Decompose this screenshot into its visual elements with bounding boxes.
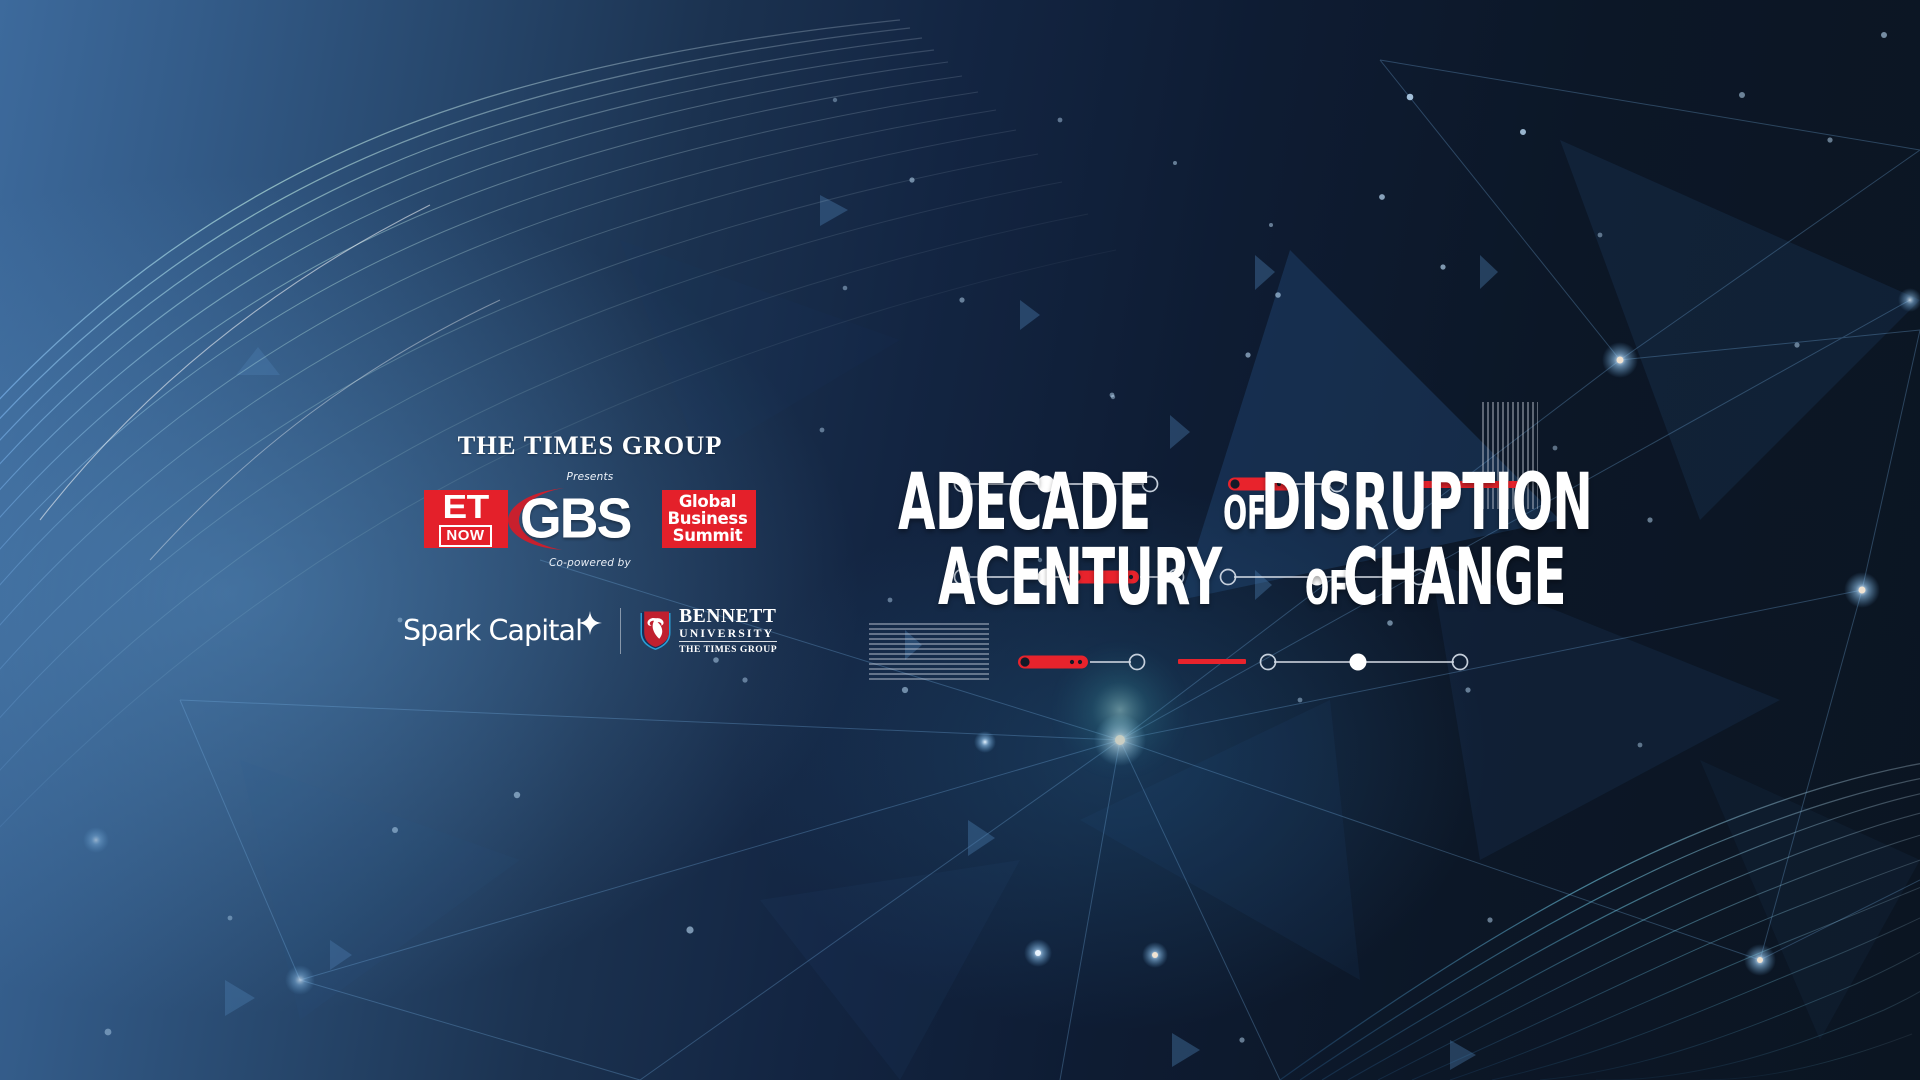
- headline-l2-word2: CHANGE: [1343, 545, 1566, 612]
- etnow-et-text: ET: [442, 491, 488, 522]
- presents-label: Presents: [380, 471, 800, 483]
- gbs-logo: ET NOW GBS Global Business Summit: [380, 490, 800, 548]
- bennett-line-2: UNIVERSITY: [679, 628, 777, 643]
- sponsor-row: Spark Capital BENNETT UNIVERSITY THE TIM…: [380, 598, 800, 664]
- gbs-mark-wrap: GBS: [508, 490, 668, 548]
- gbs-wordmark: GBS: [520, 490, 630, 547]
- bennett-university-logo: BENNETT UNIVERSITY THE TIMES GROUP: [639, 607, 777, 655]
- sponsor-divider: [620, 608, 621, 654]
- red-bar-bottom: [1178, 659, 1246, 664]
- gbs-expansion-line-2: Business: [668, 510, 748, 527]
- gbs-expansion-line-3: Summit: [668, 527, 748, 544]
- spark-capital-label: Spark Capital: [403, 617, 582, 646]
- headline-block: ADECADEOFDISRUPTION ACENTURYOFCHANGE: [880, 470, 1520, 612]
- bennett-text-block: BENNETT UNIVERSITY THE TIMES GROUP: [679, 607, 777, 655]
- bennett-line-3: THE TIMES GROUP: [679, 645, 777, 655]
- presenter-title: THE TIMES GROUP: [380, 432, 800, 459]
- brand-lockup: THE TIMES GROUP Presents ET NOW GBS Glob…: [380, 432, 800, 569]
- headline-l1-word2: DISRUPTION: [1261, 470, 1592, 537]
- bennett-line-1: BENNETT: [679, 607, 777, 627]
- headline-l2-a: A: [938, 545, 975, 612]
- headline-l1-of: OF: [1223, 494, 1266, 534]
- gbs-expansion-line-1: Global: [668, 493, 748, 510]
- bennett-shield-icon: [639, 611, 672, 651]
- spark-capital-logo: Spark Capital: [403, 617, 602, 646]
- headline-line-2: ACENTURYOFCHANGE: [938, 545, 1520, 612]
- headline-l2-of: OF: [1305, 569, 1348, 609]
- etnow-now-text: NOW: [439, 525, 491, 547]
- headline-l1-word1: DECADE: [935, 470, 1151, 537]
- headline-line-1: ADECADEOFDISRUPTION: [898, 470, 1520, 537]
- etnow-logo: ET NOW: [424, 490, 508, 548]
- copowered-label: Co-powered by: [380, 557, 800, 569]
- sparkle-icon: [578, 611, 602, 635]
- horizontal-stripe-texture: [869, 622, 989, 680]
- gbs-expansion-block: Global Business Summit: [662, 490, 757, 548]
- event-banner-stage: THE TIMES GROUP Presents ET NOW GBS Glob…: [0, 0, 1920, 1080]
- headline-l2-word1: CENTURY: [975, 545, 1222, 612]
- headline-l1-a: A: [898, 470, 935, 537]
